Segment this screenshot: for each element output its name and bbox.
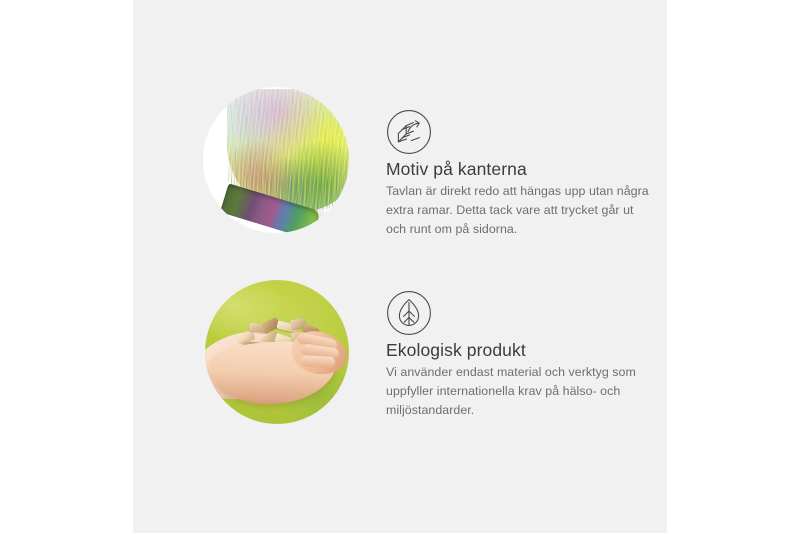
finger <box>301 355 336 368</box>
hands-wood-chips-photo <box>205 280 349 424</box>
feature-motiv-pa-kanterna: Motiv på kanterna Tavlan är direkt redo … <box>133 70 667 250</box>
feature-title: Motiv på kanterna <box>386 159 527 180</box>
product-feature-banner: Motiv på kanterna Tavlan är direkt redo … <box>0 0 800 533</box>
feature-description: Vi använder endast material och verktyg … <box>386 363 666 420</box>
abstract-canvas-photo <box>203 87 349 233</box>
feature-title: Ekologisk produkt <box>386 340 526 361</box>
canvas-wrapped-edge-icon <box>386 109 432 155</box>
feature-description: Tavlan är direkt redo att hängas upp uta… <box>386 182 654 239</box>
hands-scene <box>205 280 349 424</box>
leaf-icon <box>386 290 432 336</box>
feature-ekologisk-produkt: Ekologisk produkt Vi använder endast mat… <box>133 262 667 442</box>
canvas-artwork <box>227 89 349 213</box>
